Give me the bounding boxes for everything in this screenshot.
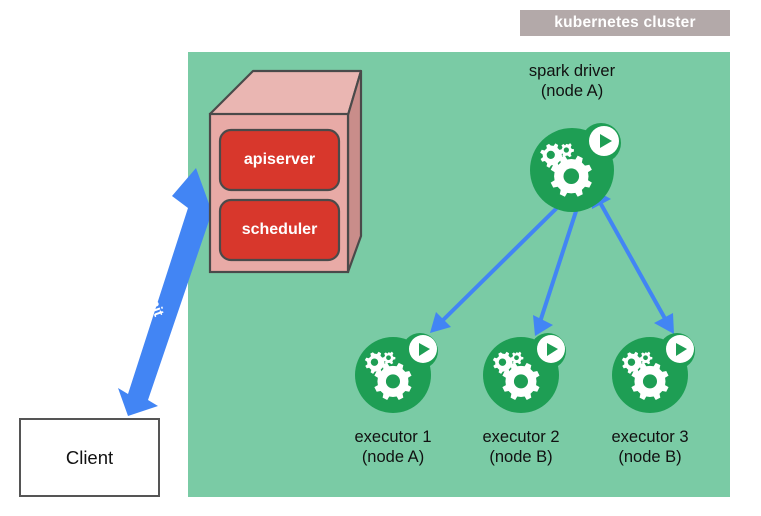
diagram-canvas: kubernetes cluster apiserver scheduler s…: [0, 0, 761, 516]
apiserver-label: apiserver: [220, 130, 339, 190]
scheduler-label: scheduler: [220, 200, 339, 260]
spark-driver-label-line1: spark driver: [497, 62, 647, 81]
client-label: Client: [20, 419, 159, 496]
executor-3-label-line1: executor 3: [585, 428, 715, 447]
kubernetes-cluster-badge: kubernetes cluster: [520, 10, 730, 36]
executor-2-label-line1: executor 2: [456, 428, 586, 447]
executor-1-label-line1: executor 1: [328, 428, 458, 447]
executor-3-label-line2: (node B): [585, 448, 715, 467]
executor-2-label-line2: (node B): [456, 448, 586, 467]
spark-driver-label-line2: (node A): [497, 82, 647, 101]
executor-1-label-line2: (node A): [328, 448, 458, 467]
